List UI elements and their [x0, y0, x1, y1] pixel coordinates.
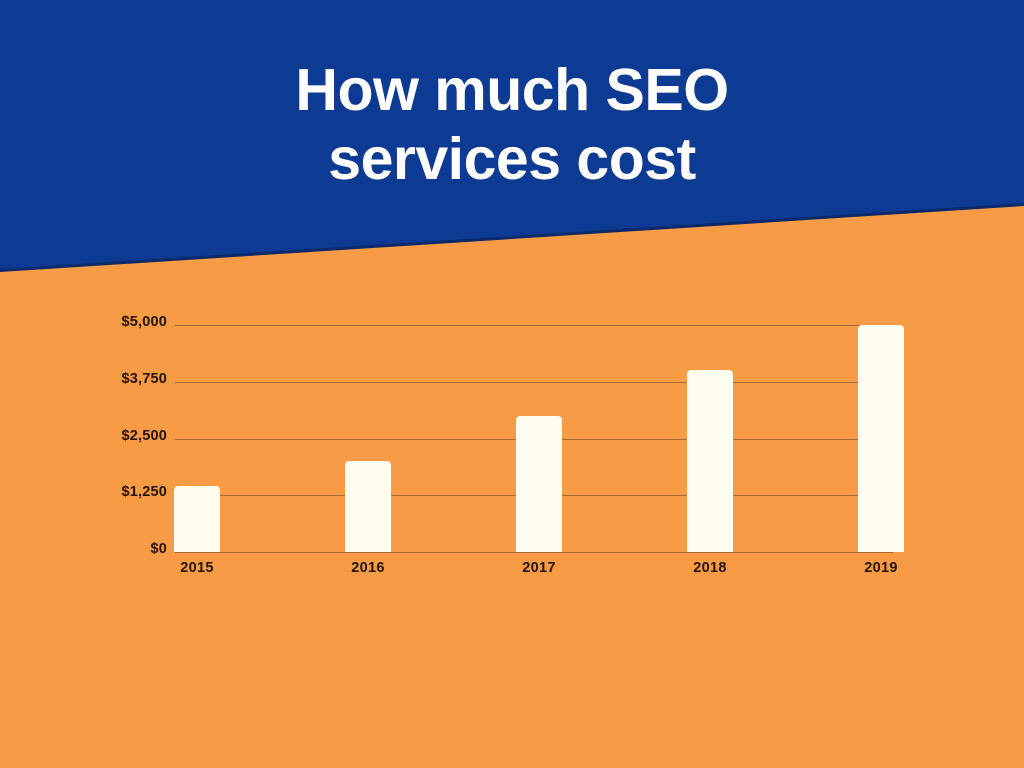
bar-group[interactable]: 2017 — [516, 416, 562, 552]
x-axis-tick-label: 2018 — [627, 560, 793, 576]
page-title: How much SEO services cost — [0, 56, 1024, 194]
x-axis-tick-label: 2015 — [114, 560, 280, 576]
x-axis-tick-label: 2017 — [456, 560, 622, 576]
x-axis-tick-label: 2016 — [285, 560, 451, 576]
bar[interactable] — [516, 416, 562, 552]
bar[interactable] — [858, 325, 904, 552]
bar[interactable] — [687, 370, 733, 552]
bar[interactable] — [174, 486, 220, 552]
x-axis-tick-label: 2019 — [798, 560, 964, 576]
bar-group[interactable]: 2015 — [174, 486, 220, 552]
bar-group[interactable]: 2018 — [687, 370, 733, 552]
bar-group[interactable]: 2016 — [345, 461, 391, 552]
bar[interactable] — [345, 461, 391, 552]
bar-group[interactable]: 2019 — [858, 325, 904, 552]
